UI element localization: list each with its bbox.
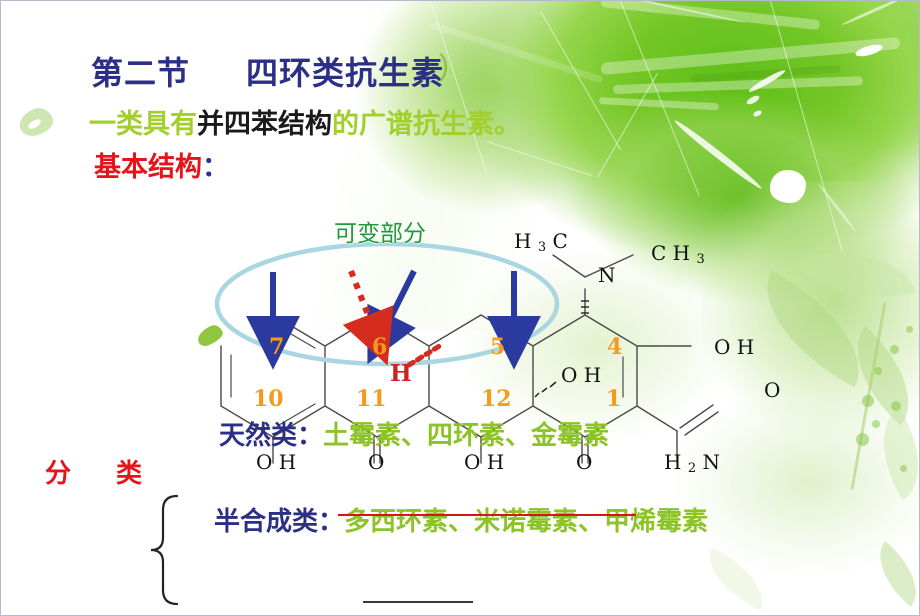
ring-number-6: 6	[372, 334, 387, 360]
subtitle-line: 一类具有并四苯结构的广谱抗生素。	[89, 102, 521, 141]
stereo-hydrogen-label: H	[390, 360, 412, 387]
subtitle-part1: 一类具有	[89, 109, 197, 140]
page-title: 第二节四环类抗生素	[91, 48, 444, 94]
atom-nitrogen-amine: N	[598, 263, 616, 287]
title-paren: )	[439, 49, 449, 83]
semisynthetic-class-row: 半合成类：多西环素、米诺霉素、甲烯霉素	[214, 501, 708, 538]
basic-structure-label: 基本结构：	[94, 145, 229, 184]
ring-number-12: 12	[481, 386, 512, 412]
atom-hydroxyl-c12: O H	[464, 450, 504, 474]
slide-canvas: 7 6 5 4 10 11 12 1 H 3 C C H 3 N O H O H…	[0, 0, 920, 616]
bottom-rule	[363, 601, 473, 603]
atom-hydroxyl-c12a: O H	[561, 363, 601, 387]
atom-ketone-c1: O	[576, 450, 592, 474]
classification-brace	[151, 496, 177, 604]
subtitle-part3: 的广谱抗生素。	[332, 109, 521, 140]
classification-label: 分 类	[45, 453, 160, 490]
ring-number-4: 4	[607, 334, 622, 360]
natural-class-label: 天然类：	[219, 421, 323, 451]
ring-number-11: 11	[356, 386, 387, 412]
subtitle-highlight: 并四苯结构	[197, 109, 332, 140]
strikethrough-line	[338, 514, 636, 516]
atom-amide-nitrogen: H 2 N	[664, 450, 720, 476]
semisynthetic-label: 半合成类：	[214, 507, 344, 537]
natural-class-row: 天然类：土霉素、四环素、金霉素	[219, 415, 609, 452]
title-main: 四环类抗生素	[246, 54, 444, 92]
atom-amide-oxygen: O	[764, 378, 780, 402]
atom-ketone-c11: O	[368, 450, 384, 474]
ring-number-1: 1	[606, 386, 621, 412]
ring-number-10: 10	[253, 386, 284, 412]
basic-structure-text: 基本结构	[94, 152, 202, 183]
natural-class-list: 土霉素、四环素、金霉素	[323, 421, 609, 451]
ring-number-7: 7	[269, 334, 284, 360]
ring-number-5: 5	[490, 334, 505, 360]
atom-methyl-right: C H 3	[651, 241, 705, 267]
variable-part-caption: 可变部分	[334, 214, 426, 248]
atom-hydroxyl-c10: O H	[256, 450, 296, 474]
semisynthetic-list: 多西环素、米诺霉素、甲烯霉素	[344, 507, 708, 537]
basic-structure-colon: ：	[202, 152, 229, 183]
atom-hydroxyl-enol: O H	[714, 335, 754, 359]
atom-methyl-left: H 3 C	[514, 229, 568, 255]
title-prefix: 第二节	[91, 54, 190, 92]
